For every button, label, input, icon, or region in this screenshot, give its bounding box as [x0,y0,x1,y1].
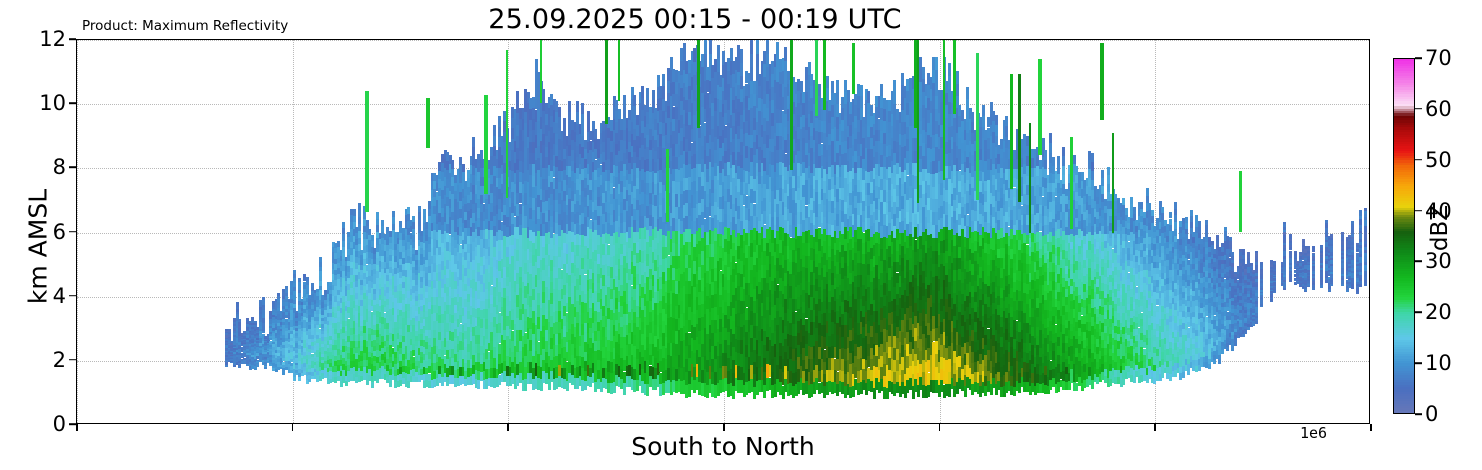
radar-cross-section-figure: Product: Maximum Reflectivity 25.09.2025… [0,0,1482,470]
x-axis-tick [292,424,294,431]
x-axis-label: South to North [76,432,1370,461]
x-axis-tick [723,424,725,431]
colorbar-tick [1415,57,1422,59]
colorbar-tick-label: 10 [1425,351,1452,375]
colorbar-tick-label: 0 [1425,402,1438,426]
x-axis-tick [1154,424,1156,431]
colorbar-tick [1415,108,1422,110]
x-axis-tick [507,424,509,431]
y-axis-tick [69,102,76,104]
plot-area[interactable] [76,39,1370,424]
x-axis-tick [76,424,78,431]
colorbar-tick-label: 30 [1425,249,1452,273]
colorbar-tick-label: 20 [1425,300,1452,324]
y-axis-tick-label: 12 [39,27,66,51]
colorbar-tick-label: 40 [1425,199,1452,223]
y-axis-tick [69,231,76,233]
y-axis-label: km AMSL [24,117,53,377]
x-axis-tick [939,424,941,431]
y-axis-tick-label: 2 [53,348,66,372]
y-axis-tick [69,167,76,169]
colorbar-tick [1415,311,1422,313]
x-axis-tick [1370,424,1372,431]
y-axis-tick-label: 4 [53,284,66,308]
y-axis-tick [69,295,76,297]
y-axis-tick [69,38,76,40]
y-axis-tick [69,359,76,361]
colorbar-tick [1415,413,1422,415]
y-axis-tick-label: 10 [39,91,66,115]
colorbar-band [1394,411,1414,414]
y-axis-tick-label: 6 [53,220,66,244]
chart-title: 25.09.2025 00:15 - 00:19 UTC [0,4,1390,35]
colorbar-tick-label: 70 [1425,46,1452,70]
colorbar-tick [1415,261,1422,263]
y-axis-tick [69,423,76,425]
colorbar-tick [1415,362,1422,364]
x-axis-offset-label: 1e6 [1300,424,1327,442]
colorbar-tick [1415,159,1422,161]
y-axis-tick-label: 8 [53,155,66,179]
colorbar[interactable] [1393,58,1415,414]
reflectivity-heatmap [77,40,1369,423]
colorbar-tick-label: 50 [1425,148,1452,172]
colorbar-tick [1415,210,1422,212]
y-axis-tick-label: 0 [53,412,66,436]
colorbar-gradient [1393,58,1415,414]
colorbar-tick-label: 60 [1425,97,1452,121]
